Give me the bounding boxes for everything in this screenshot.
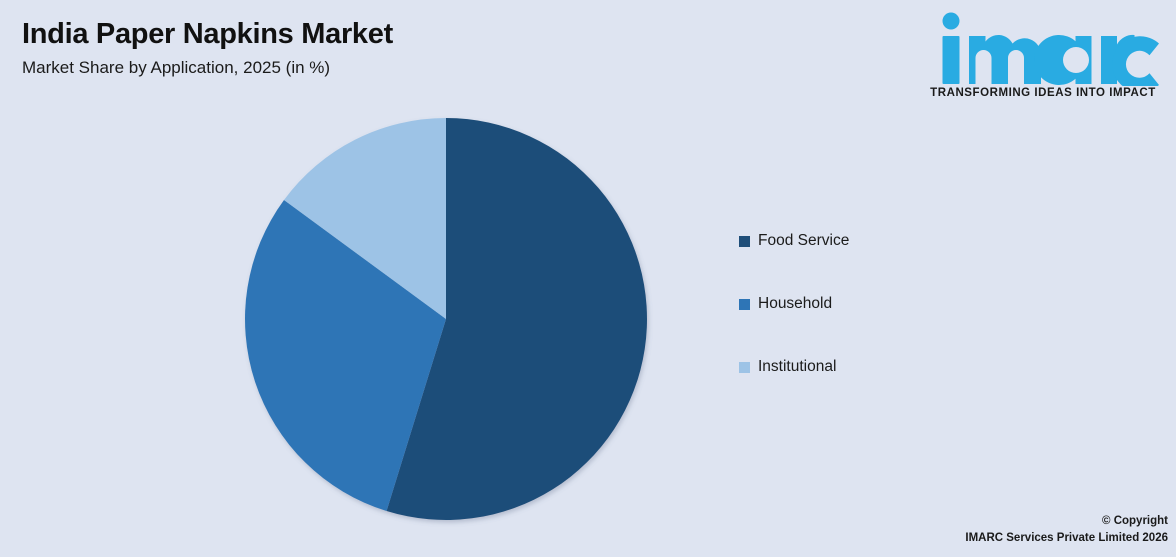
legend-item-household[interactable]: Household [739, 295, 849, 313]
chart-header: India Paper Napkins Market Market Share … [22, 18, 642, 79]
page-title: India Paper Napkins Market [22, 18, 642, 50]
legend-item-label: Household [758, 296, 832, 312]
legend-item-label: Food Service [758, 233, 849, 249]
legend-swatch-icon [739, 236, 750, 247]
pie-svg [245, 118, 647, 520]
imarc-wordmark-icon [923, 10, 1163, 86]
chart-legend: Food ServiceHouseholdInstitutional [739, 232, 849, 376]
copyright-notice: © Copyright IMARC Services Private Limit… [965, 513, 1168, 548]
pie-slice-group [245, 118, 647, 520]
legend-swatch-icon [739, 299, 750, 310]
imarc-logo: TRANSFORMING IDEAS INTO IMPACT [918, 10, 1168, 99]
legend-item-label: Institutional [758, 359, 836, 375]
logo-tagline: TRANSFORMING IDEAS INTO IMPACT [918, 87, 1168, 99]
chart-canvas: India Paper Napkins Market Market Share … [0, 0, 1176, 557]
legend-item-institutional[interactable]: Institutional [739, 358, 849, 376]
legend-swatch-icon [739, 362, 750, 373]
legend-item-food-service[interactable]: Food Service [739, 232, 849, 250]
copyright-line-2: IMARC Services Private Limited 2026 [965, 530, 1168, 547]
pie-chart [245, 118, 647, 520]
copyright-line-1: © Copyright [965, 513, 1168, 530]
chart-subtitle: Market Share by Application, 2025 (in %) [22, 58, 642, 78]
